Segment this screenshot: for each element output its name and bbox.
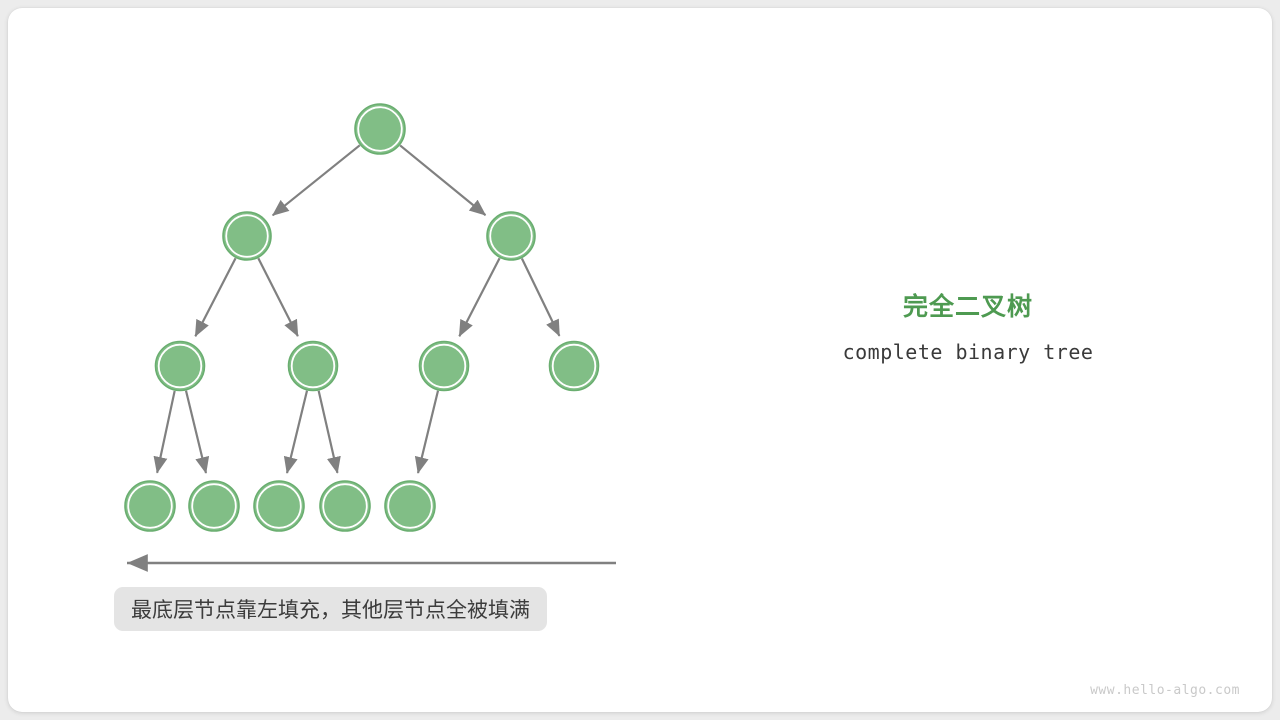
tree-node-layer bbox=[125, 104, 599, 531]
tree-node bbox=[355, 104, 405, 154]
tree-node bbox=[156, 342, 205, 391]
diagram-canvas: 完全二叉树 complete binary tree 最底层节点靠左填充，其他层… bbox=[0, 0, 1280, 720]
tree-node bbox=[223, 212, 271, 260]
diagram-title-zh: 完全二叉树 bbox=[790, 292, 1146, 322]
legend-block: 完全二叉树 complete binary tree bbox=[790, 292, 1146, 364]
tree-edge bbox=[186, 391, 206, 473]
tree-edge bbox=[287, 391, 307, 473]
tree-node bbox=[550, 342, 599, 391]
watermark-url: www.hello-algo.com bbox=[1090, 683, 1240, 698]
tree-edge bbox=[459, 258, 499, 336]
tree-node bbox=[125, 481, 175, 531]
tree-edge bbox=[157, 391, 175, 473]
caption-text: 最底层节点靠左填充，其他层节点全被填满 bbox=[131, 594, 530, 624]
tree-node bbox=[487, 212, 535, 260]
tree-edge bbox=[319, 391, 338, 473]
caption-badge: 最底层节点靠左填充，其他层节点全被填满 bbox=[114, 587, 547, 631]
tree-edge bbox=[522, 258, 559, 335]
tree-edge bbox=[273, 145, 360, 215]
tree-edge bbox=[418, 391, 438, 473]
tree-node bbox=[289, 342, 338, 391]
tree-node bbox=[420, 342, 469, 391]
tree-node bbox=[189, 481, 239, 531]
tree-edge bbox=[258, 258, 298, 336]
tree-edge-layer bbox=[157, 145, 559, 473]
diagram-title-en: complete binary tree bbox=[790, 340, 1146, 364]
tree-node bbox=[254, 481, 304, 531]
tree-node bbox=[320, 481, 370, 531]
tree-node bbox=[385, 481, 435, 531]
tree-edge bbox=[195, 258, 235, 336]
tree-edge bbox=[400, 145, 485, 215]
